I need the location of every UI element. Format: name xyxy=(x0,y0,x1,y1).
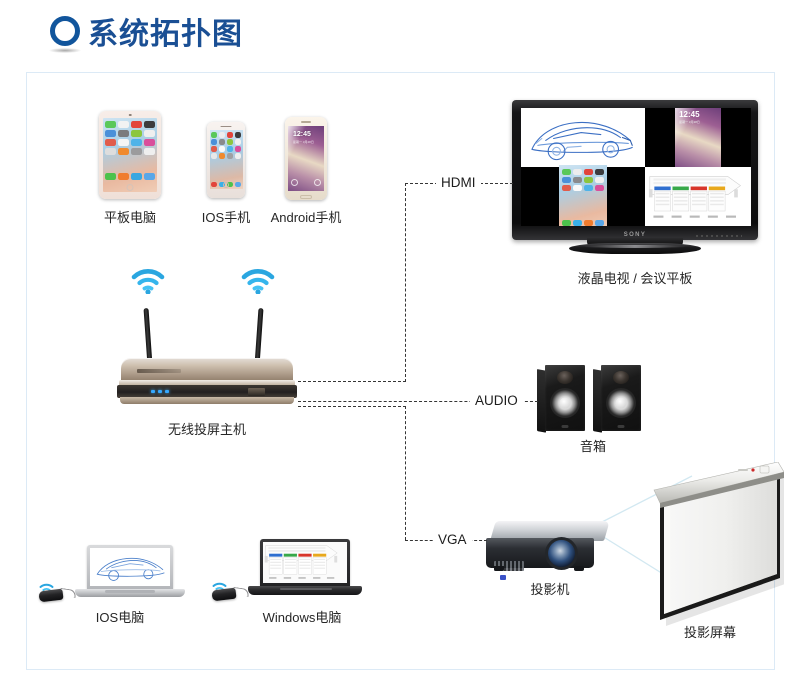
television-icon: 12:45 星期一 3月28日 xyxy=(512,100,758,252)
projection-screen-icon xyxy=(632,462,784,632)
tablet-camera xyxy=(129,114,132,117)
tv-quadrant-chart xyxy=(645,167,751,226)
vga-connector-segment-h1 xyxy=(298,406,406,407)
laptop-trackpad-notch xyxy=(280,588,332,591)
hdmi-connector-segment-h1 xyxy=(298,381,406,382)
macbook-icon xyxy=(75,545,185,600)
projector-lens xyxy=(548,540,575,567)
iphone-speaker xyxy=(221,126,232,128)
tablet-screen xyxy=(103,118,157,192)
router-led-indicators xyxy=(151,390,169,393)
page-header: 系统拓扑图 xyxy=(0,0,800,72)
tv-quadrant-tablet-mirror xyxy=(521,167,645,226)
speakers-label: 音箱 xyxy=(548,440,638,453)
hdmi-connector-label: HDMI xyxy=(436,176,481,190)
wireless-router-icon xyxy=(117,260,297,410)
vga-connector-segment-v xyxy=(405,406,406,540)
audio-connector-label: AUDIO xyxy=(470,394,523,408)
tv-screen: 12:45 星期一 3月28日 xyxy=(521,108,751,226)
projection-screen-label: 投影屏幕 xyxy=(655,626,765,639)
android-left-shortcut xyxy=(291,179,298,186)
router-body xyxy=(117,358,297,404)
android-home-button xyxy=(300,195,312,199)
android-phone-label: Android手机 xyxy=(256,211,356,224)
ios-laptop-label: IOS电脑 xyxy=(70,611,170,624)
android-right-shortcut xyxy=(314,179,321,186)
projector-icon xyxy=(486,521,604,575)
tv-label: 液晶电视 / 会议平板 xyxy=(560,272,710,285)
android-clock: 12:45 xyxy=(293,131,311,138)
speaker-right xyxy=(593,365,641,431)
tv-phone-clock: 12:45 xyxy=(679,111,699,119)
android-phone-icon: 12:45 星期一 3月28日 xyxy=(285,117,327,200)
speaker-left xyxy=(537,365,585,431)
tablet-icon xyxy=(99,111,161,199)
router-port xyxy=(248,388,265,396)
iphone-screen xyxy=(210,130,243,189)
projector-label: 投影机 xyxy=(505,583,595,596)
windows-laptop-icon xyxy=(248,539,362,597)
router-label: 无线投屏主机 xyxy=(157,423,257,436)
tablet-home-button xyxy=(127,184,134,191)
tv-quadrant-phone-mirror: 12:45 星期一 3月28日 xyxy=(645,108,751,167)
android-date: 星期一 3月28日 xyxy=(293,140,314,144)
vga-connector-label: VGA xyxy=(433,533,472,547)
wifi-signal-icon xyxy=(241,268,275,294)
circle-icon-shadow xyxy=(49,48,81,53)
topology-diagram-page: 系统拓扑图 平板电脑 xyxy=(0,0,800,686)
windows-laptop-label: Windows电脑 xyxy=(242,611,362,624)
wifi-dongle-icon xyxy=(39,583,73,605)
hdmi-connector-segment-v xyxy=(405,183,406,382)
tv-stand-sheen xyxy=(583,245,687,248)
tv-quadrant-car-sketch xyxy=(521,108,645,167)
tv-ir-sensor-strip xyxy=(696,235,742,237)
android-speaker xyxy=(301,121,311,123)
macbook-trackpad-notch xyxy=(105,590,155,593)
tablet-label: 平板电脑 xyxy=(80,211,180,224)
page-title: 系统拓扑图 xyxy=(88,9,243,53)
iphone-home-button xyxy=(223,182,229,188)
wifi-dongle-icon xyxy=(212,582,246,604)
tv-phone-date: 星期一 3月28日 xyxy=(679,120,700,124)
android-screen: 12:45 星期一 3月28日 xyxy=(288,126,324,191)
speaker-icon xyxy=(537,365,645,437)
wifi-signal-icon xyxy=(131,268,165,294)
iphone-icon xyxy=(207,122,245,198)
circle-outline-icon xyxy=(50,16,80,46)
